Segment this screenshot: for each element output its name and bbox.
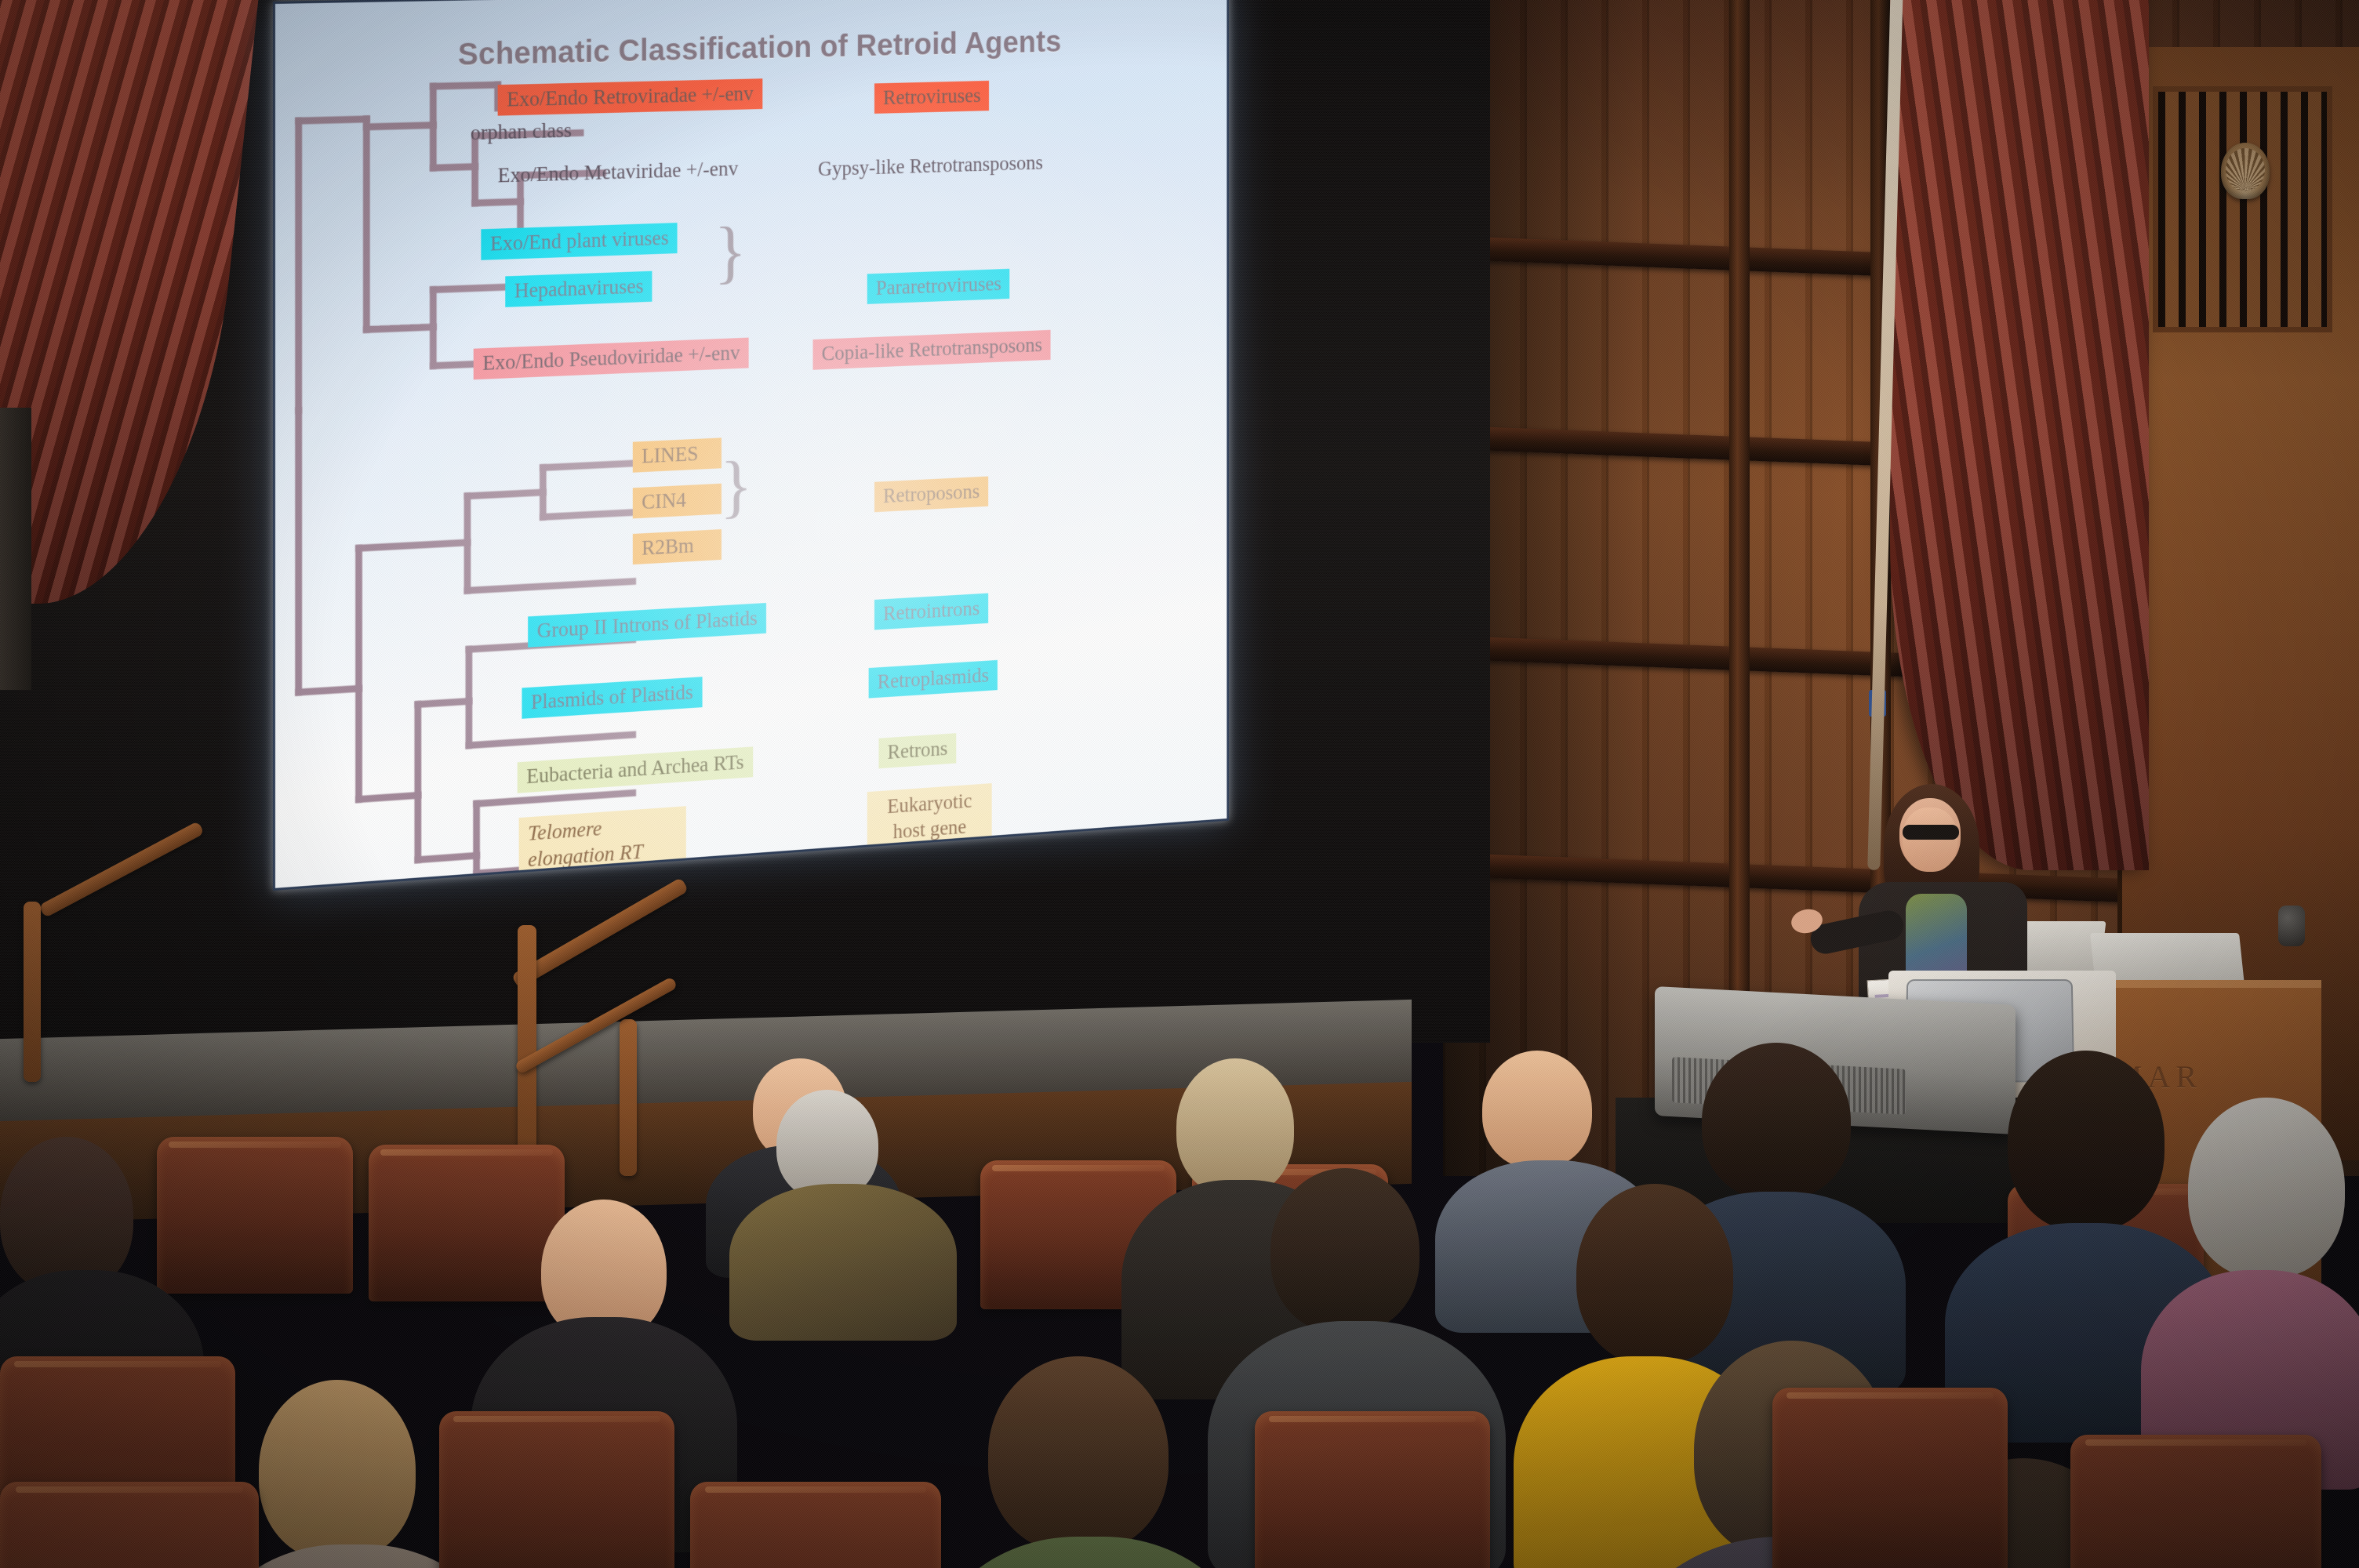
projection-screen: Schematic Classification of Retroid Agen… (273, 0, 1229, 891)
door-handle-icon[interactable] (2278, 906, 2305, 946)
slide-tag-left-7: CIN4 (633, 484, 722, 519)
audience-area (0, 1043, 2359, 1568)
slide-tag-left-1: orphan class (461, 115, 580, 150)
audience-head (1270, 1168, 1419, 1333)
audience-head (988, 1356, 1169, 1552)
audience-head (259, 1380, 416, 1560)
slide-tag-right-11: Retrons (878, 733, 956, 768)
sunglasses-icon (1903, 825, 1959, 840)
slide-tag-right-4: Pararetroviruses (867, 269, 1010, 304)
audience-head (776, 1090, 878, 1200)
slide-tag-left-6: LINES (633, 437, 722, 473)
conference-photo-scene: Schematic Classification of Retroid Agen… (0, 0, 2359, 1568)
slide-tag-right-8: Retroposons (874, 477, 988, 513)
presenter-face (1903, 808, 1957, 872)
wall-post (1729, 0, 1750, 1019)
brace-glyph-lower: } (720, 458, 752, 516)
slide-tag-left-8: R2Bm (633, 529, 722, 564)
audience-shoulders (925, 1537, 1255, 1568)
seat (157, 1137, 353, 1294)
audience-head (1576, 1184, 1733, 1364)
seat (1772, 1388, 2008, 1568)
scallop-shell-medallion-icon (2221, 143, 2270, 199)
brace-glyph-upper: } (714, 223, 747, 281)
seat (0, 1482, 259, 1568)
slide-tag-left-4: Hepadnaviruses (505, 271, 652, 307)
stage-speaker-box (0, 408, 31, 690)
seat (1255, 1411, 1490, 1568)
audience-head (2188, 1098, 2345, 1278)
seat (439, 1411, 674, 1568)
audience-head (1482, 1051, 1592, 1168)
audience-head (2008, 1051, 2165, 1231)
audience-shoulders (729, 1184, 957, 1341)
audience-head (1176, 1058, 1294, 1196)
stage-curtain-right (1890, 0, 2149, 870)
seat (2070, 1435, 2321, 1568)
door-vent-slats (2153, 86, 2332, 332)
slide-tag-right-0: Retroviruses (874, 81, 989, 114)
slide-content: Schematic Classification of Retroid Agen… (275, 0, 1227, 888)
seat (690, 1482, 941, 1568)
seat (369, 1145, 565, 1301)
audience-head (1702, 1043, 1851, 1200)
